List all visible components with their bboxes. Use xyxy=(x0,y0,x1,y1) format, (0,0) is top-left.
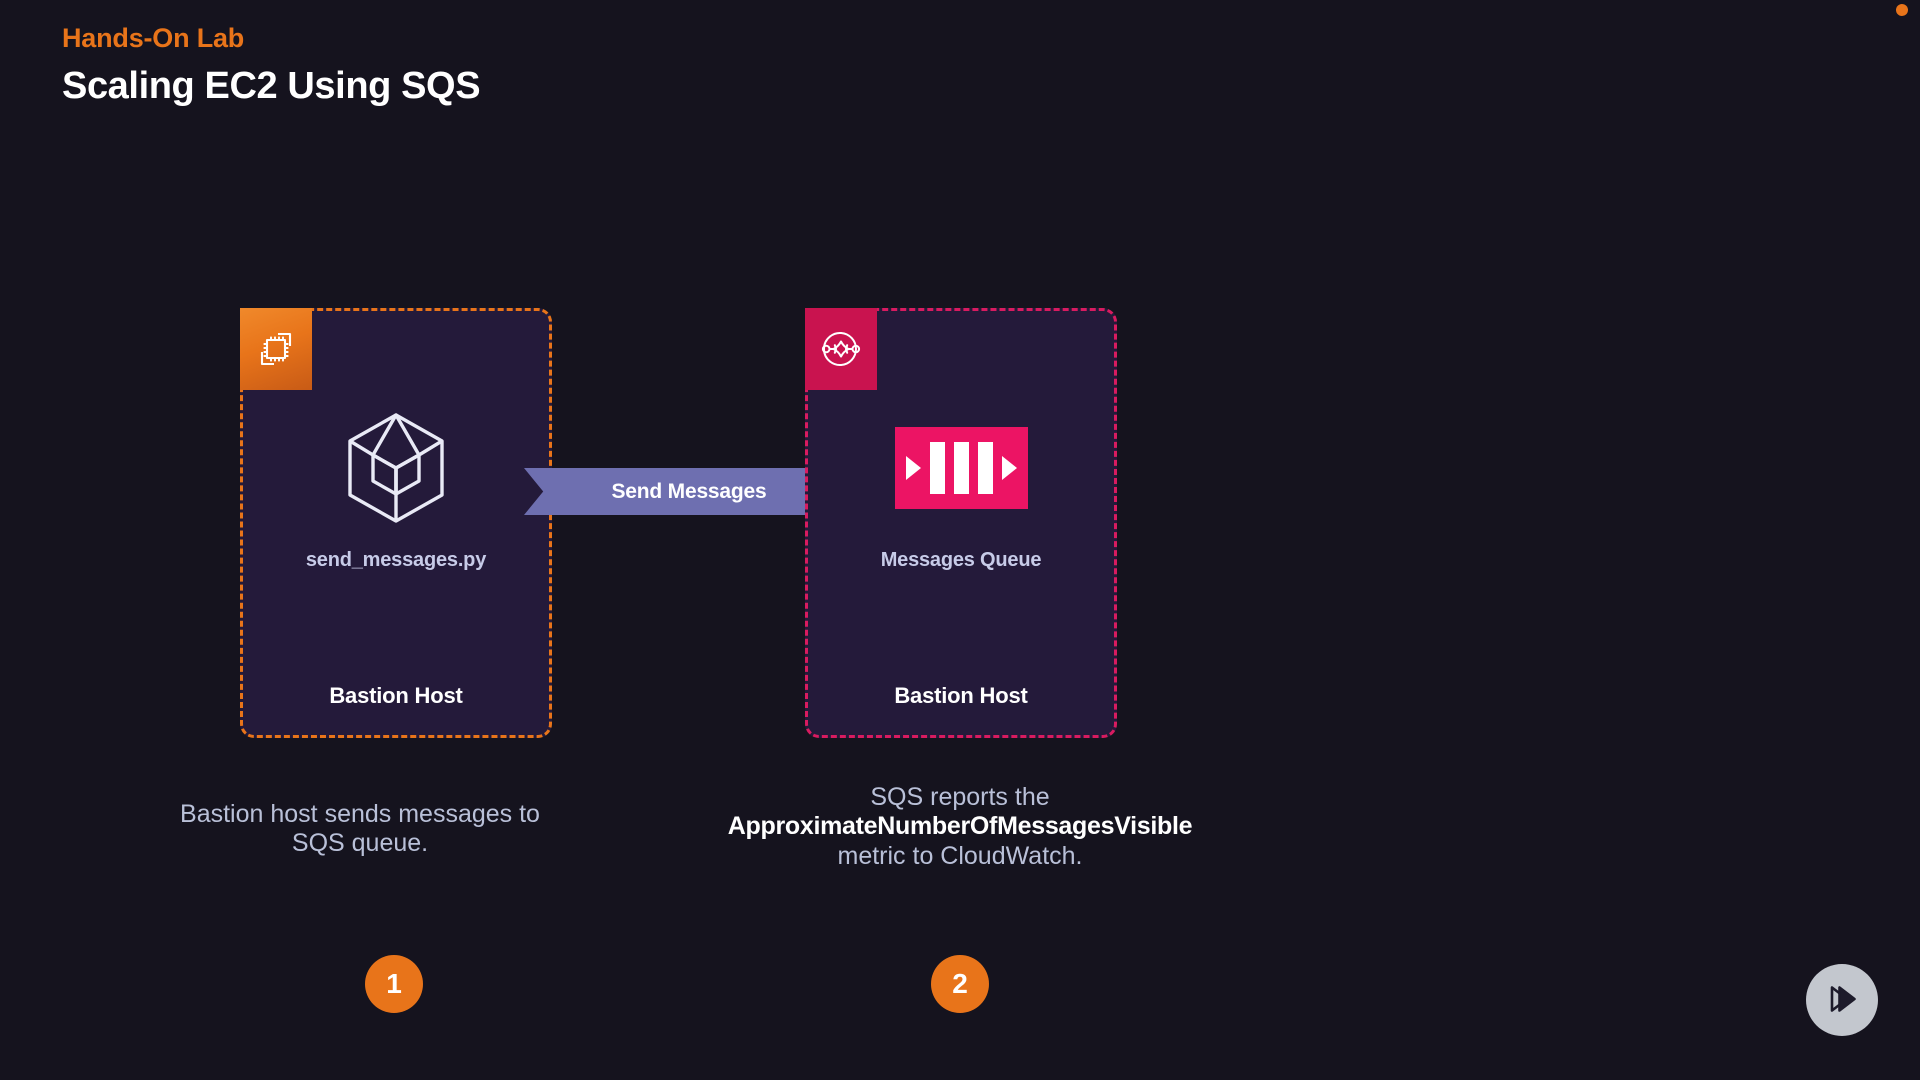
lab-eyebrow-label: Hands-On Lab xyxy=(62,20,480,56)
node-footer-bastion-host-1: Bastion Host xyxy=(243,683,549,709)
aws-ec2-icon xyxy=(240,308,312,390)
slide-header: Hands-On Lab Scaling EC2 Using SQS xyxy=(62,20,480,113)
connector-label: Send Messages xyxy=(602,480,767,504)
queue-message-bar xyxy=(978,442,993,494)
caption-step-1: Bastion host sends messages to SQS queue… xyxy=(180,800,540,859)
caption-step-1-text: Bastion host sends messages to SQS queue… xyxy=(180,800,540,857)
caption-step-2-tail: metric to CloudWatch. xyxy=(838,842,1083,870)
caption-step-2-lead: SQS reports the xyxy=(870,783,1049,811)
queue-arrow-in-icon xyxy=(906,456,921,480)
recording-indicator-dot xyxy=(1896,4,1908,16)
caption-step-2: SQS reports the ApproximateNumberOfMessa… xyxy=(640,783,1280,871)
page-title: Scaling EC2 Using SQS xyxy=(62,61,480,112)
message-queue-icon xyxy=(808,403,1114,533)
step-captions: Bastion host sends messages to SQS queue… xyxy=(0,788,1920,908)
cube-icon xyxy=(243,403,549,533)
slide-canvas: Hands-On Lab Scaling EC2 Using SQS xyxy=(0,0,1920,1080)
step-badge-1: 1 xyxy=(365,955,423,1013)
step-badge-2: 2 xyxy=(931,955,989,1013)
queue-message-bar xyxy=(954,442,969,494)
step-badges: 1 2 xyxy=(0,955,1920,1045)
node-label-send-messages-py: send_messages.py xyxy=(243,549,549,572)
connector-send-messages: Send Messages xyxy=(524,468,844,515)
caption-step-2-metric-name: ApproximateNumberOfMessagesVisible xyxy=(728,812,1193,840)
node-bastion-ec2: send_messages.py Bastion Host xyxy=(240,308,552,738)
fast-forward-icon xyxy=(1823,982,1861,1019)
queue-message-bar xyxy=(930,442,945,494)
aws-sqs-icon xyxy=(805,308,877,390)
next-slide-button[interactable] xyxy=(1806,964,1878,1036)
queue-arrow-out-icon xyxy=(1002,456,1017,480)
node-footer-bastion-host-2: Bastion Host xyxy=(808,683,1114,709)
node-label-messages-queue: Messages Queue xyxy=(808,549,1114,572)
node-sqs-queue: Messages Queue Bastion Host xyxy=(805,308,1117,738)
